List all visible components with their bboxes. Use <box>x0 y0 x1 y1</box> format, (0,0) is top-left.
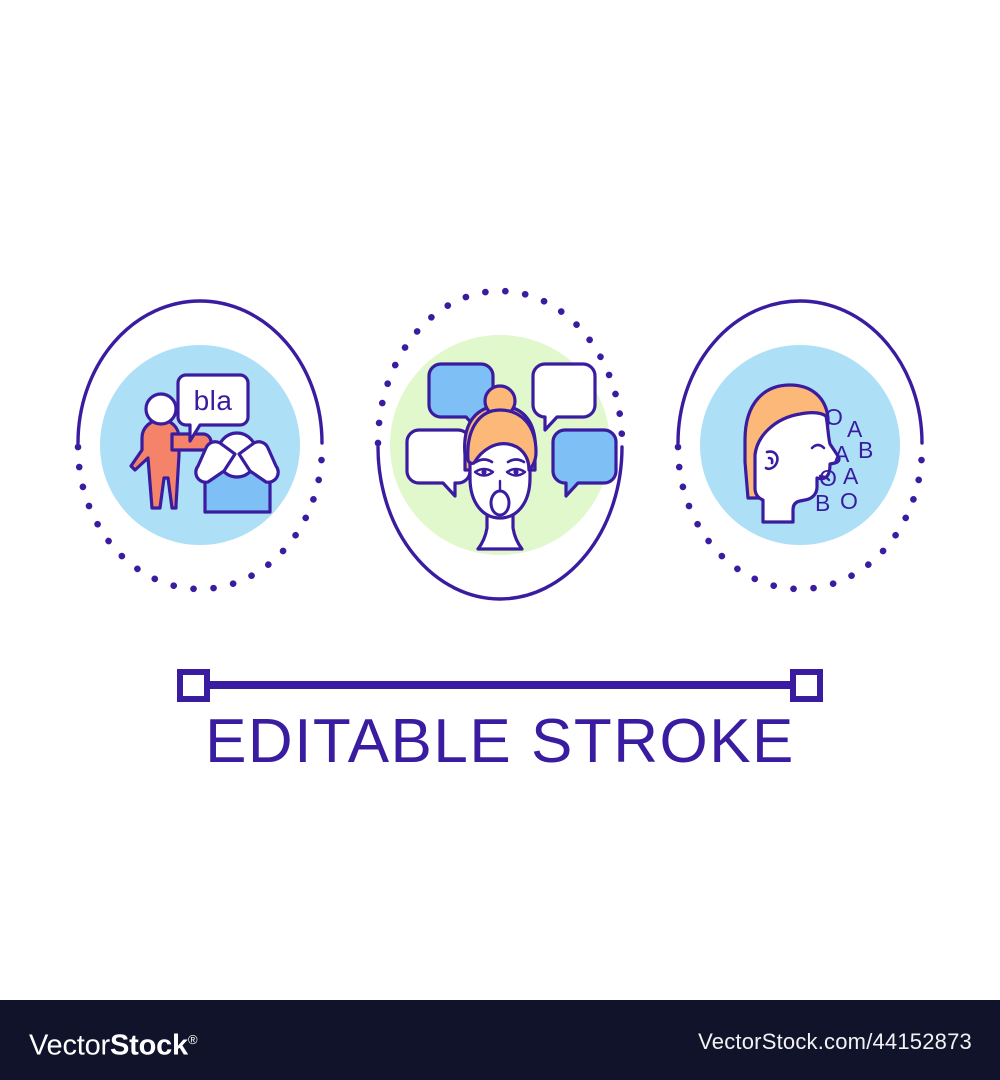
square-handle-right[interactable] <box>793 672 820 699</box>
vectorstock-logo: VectorStock® <box>29 1024 197 1062</box>
page-root: bla <box>0 0 1000 1080</box>
letter-5: O <box>819 465 837 491</box>
surprised-mouth <box>491 491 509 515</box>
letter-1: O <box>825 404 843 430</box>
speaker-head <box>146 394 176 424</box>
vectorstock-url: VectorStock.com/44152873 <box>698 1030 972 1054</box>
confused-listener-figure <box>196 433 278 512</box>
logo-text-light: Vector <box>29 1030 110 1062</box>
concept-icon-group-middle <box>378 291 622 599</box>
letter-6: A <box>843 463 859 489</box>
concept-icon-group-right: O A A B O A B O <box>678 301 922 589</box>
concept-icon-group-left: bla <box>78 301 322 589</box>
registered-trademark-icon: ® <box>188 1032 197 1047</box>
speech-bubble-text: bla <box>194 385 233 416</box>
logo-text-bold: Stock <box>110 1030 188 1062</box>
letter-7: B <box>815 490 830 516</box>
square-handle-left[interactable] <box>180 672 207 699</box>
letter-8: O <box>840 488 858 514</box>
editable-stroke-label: EDITABLE STROKE <box>205 707 795 776</box>
editable-stroke-widget[interactable]: EDITABLE STROKE <box>180 672 820 776</box>
letter-4: B <box>858 437 873 463</box>
illustration-artboard: bla <box>0 0 1000 1000</box>
watermark-footer: VectorStock® VectorStock.com/44152873 <box>0 1000 1000 1080</box>
